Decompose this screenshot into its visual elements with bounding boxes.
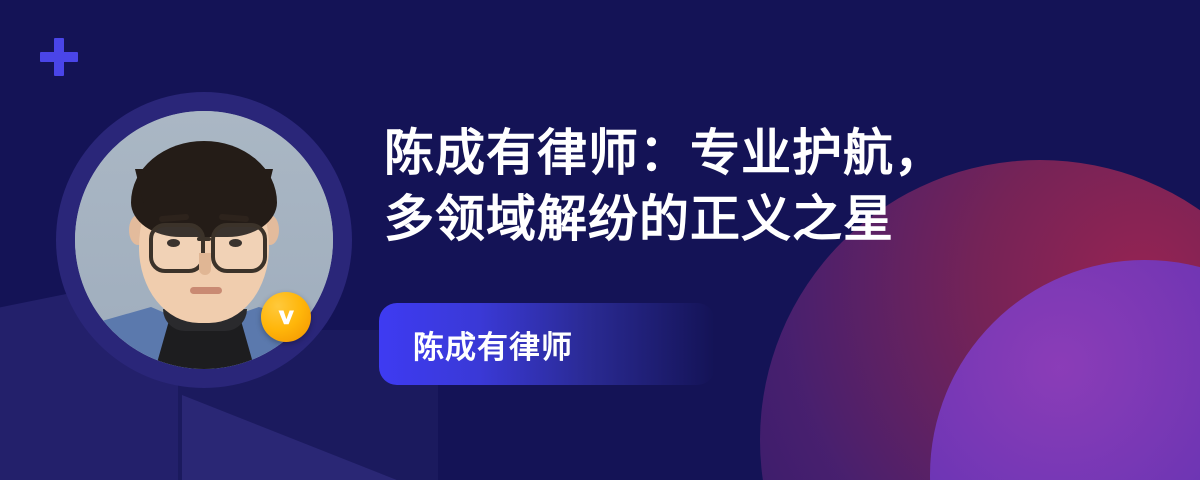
portrait-glasses-bridge bbox=[197, 237, 211, 241]
portrait-glasses-left bbox=[149, 223, 205, 273]
gradient-blob-secondary bbox=[930, 260, 1200, 480]
headline-line-2: 多领域解纷的正义之星 bbox=[384, 186, 1164, 252]
plus-icon bbox=[40, 38, 78, 76]
decorative-triangle bbox=[182, 395, 422, 480]
verified-v-icon bbox=[261, 292, 311, 342]
promo-banner: 陈成有律师：专业护航， 多领域解纷的正义之星 陈成有律师 bbox=[0, 0, 1200, 480]
portrait-mouth bbox=[190, 287, 222, 294]
portrait-nose bbox=[199, 253, 211, 275]
headline-block: 陈成有律师：专业护航， 多领域解纷的正义之星 bbox=[384, 120, 1164, 252]
portrait-glasses-right bbox=[211, 223, 267, 273]
lawyer-name-button[interactable]: 陈成有律师 bbox=[379, 303, 715, 385]
avatar bbox=[56, 92, 352, 388]
page-title: 陈成有律师：专业护航， 多领域解纷的正义之星 bbox=[384, 120, 1164, 252]
headline-line-1: 陈成有律师：专业护航， bbox=[384, 120, 1164, 186]
